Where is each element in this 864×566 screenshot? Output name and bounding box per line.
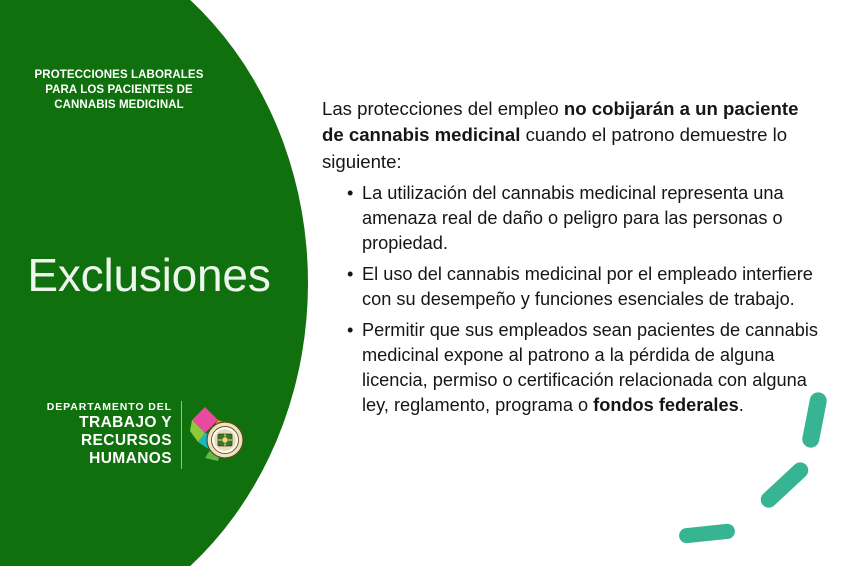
page-title: Exclusiones [0, 250, 298, 301]
slide-body: Las protecciones del empleo no cobijarán… [322, 96, 822, 424]
list-item-text-bold: fondos federales [593, 395, 739, 415]
agency-logo-line-3: RECURSOS HUMANOS [14, 432, 172, 469]
list-item-text: La utilización del cannabis medicinal re… [362, 183, 784, 253]
kicker-line-2: PARA LOS PACIENTES DE [12, 83, 226, 98]
teal-stroke-horizontal-icon [678, 523, 735, 544]
agency-logo: DEPARTAMENTO DEL TRABAJO Y RECURSOS HUMA… [14, 404, 246, 466]
exclusions-list: • La utilización del cannabis medicinal … [322, 181, 822, 417]
lead-paragraph: Las protecciones del empleo no cobijarán… [322, 96, 822, 175]
slide-kicker-title: PROTECCIONES LABORALES PARA LOS PACIENTE… [12, 68, 226, 114]
slide-canvas: PROTECCIONES LABORALES PARA LOS PACIENTE… [0, 0, 864, 566]
bullet-marker-icon: • [347, 262, 353, 287]
list-item-text-part-1: Permitir que sus empleados sean paciente… [362, 320, 818, 415]
list-item-text-part-2: . [739, 395, 744, 415]
puerto-rico-seal-emblem-icon [188, 404, 246, 466]
agency-logo-line-1: DEPARTAMENTO DEL [14, 401, 172, 413]
agency-logo-line-2: TRABAJO Y [14, 414, 172, 432]
lead-part-1: Las protecciones del empleo [322, 98, 564, 119]
list-item-text: El uso del cannabis medicinal por el emp… [362, 264, 813, 309]
bullet-marker-icon: • [347, 318, 353, 343]
kicker-line-1: PROTECCIONES LABORALES [12, 68, 226, 83]
list-item: • La utilización del cannabis medicinal … [322, 181, 822, 256]
teal-stroke-diagonal-icon [757, 459, 811, 511]
list-item: • Permitir que sus empleados sean pacien… [322, 318, 822, 418]
kicker-line-3: CANNABIS MEDICINAL [12, 98, 226, 113]
list-item: • El uso del cannabis medicinal por el e… [322, 262, 822, 312]
agency-logo-text: DEPARTAMENTO DEL TRABAJO Y RECURSOS HUMA… [14, 401, 182, 468]
bullet-marker-icon: • [347, 181, 353, 206]
